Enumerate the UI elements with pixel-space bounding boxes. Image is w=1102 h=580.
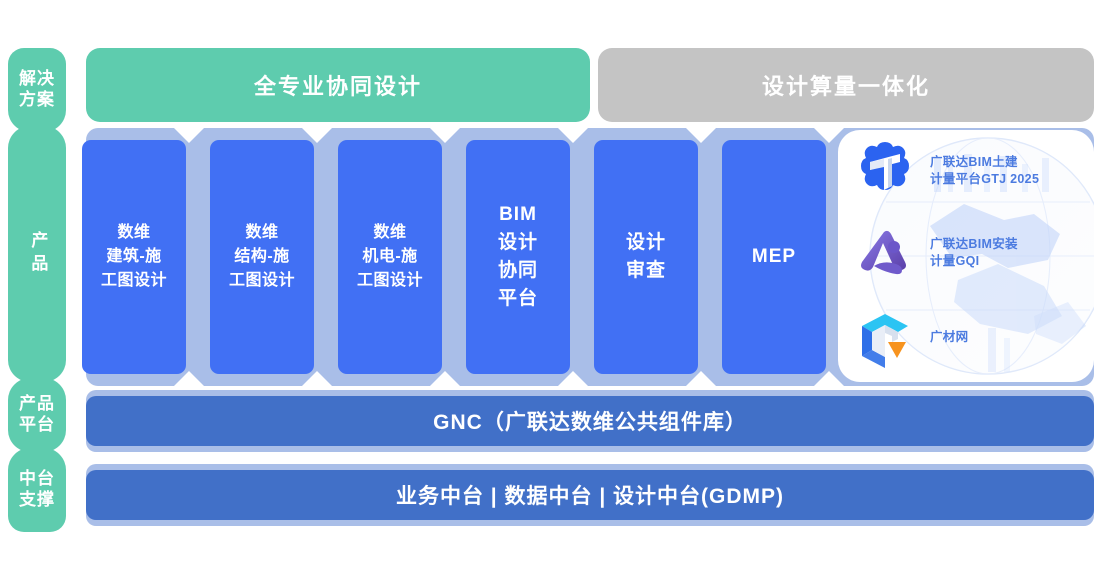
product-card-line: BIM	[494, 201, 542, 229]
gtj-caption-line1: 广联达BIM土建	[930, 154, 1039, 171]
gqi-caption: 广联达BIM安装 计量GQI	[930, 236, 1018, 270]
quantity-products-panel: 广联达BIM土建 计量平台GTJ 2025	[838, 130, 1094, 382]
rail-product-label: 产品	[27, 231, 48, 277]
midplatform-bar-label: 业务中台 | 数据中台 | 设计中台(GDMP)	[396, 480, 784, 510]
product-card-line: 设计	[622, 229, 670, 257]
product-card-line: 结构-施	[225, 245, 299, 269]
product-item-gcw[interactable]: 广材网	[854, 306, 968, 368]
solution-banner-label-2: 设计算量一体化	[762, 69, 930, 101]
rail-solution-line2: 方案	[19, 90, 55, 111]
product-card-line: 设计	[494, 229, 542, 257]
gqi-logo-icon	[854, 222, 916, 284]
product-card-mep[interactable]: MEP	[722, 140, 826, 374]
product-card-line: 工图设计	[225, 269, 299, 293]
product-card-line: 数维	[97, 221, 171, 245]
solution-banner-design-quantity: 设计算量一体化	[598, 48, 1094, 122]
product-card-line: 机电-施	[353, 245, 427, 269]
product-card-line: 审查	[622, 257, 670, 285]
product-card-design-review[interactable]: 设计 审查	[594, 140, 698, 374]
rail-midplatform-line2: 支撑	[19, 490, 55, 511]
product-card-arch[interactable]: 数维 建筑-施 工图设计	[82, 140, 186, 374]
rail-product: 产品	[8, 126, 66, 382]
product-card-line: 工图设计	[97, 269, 171, 293]
product-card-line: MEP	[748, 243, 800, 271]
solution-banner-label-1: 全专业协同设计	[254, 69, 422, 101]
gnc-bar-label: GNC（广联达数维公共组件库）	[433, 406, 747, 436]
gqi-caption-line1: 广联达BIM安装	[930, 236, 1018, 253]
rail-solution-line1: 解决	[19, 69, 55, 90]
midplatform-bar[interactable]: 业务中台 | 数据中台 | 设计中台(GDMP)	[86, 470, 1094, 520]
product-card-line: 协同	[494, 257, 542, 285]
product-card-line: 数维	[225, 221, 299, 245]
architecture-diagram: 解决 方案 产品 产品 平台 中台 支撑 全专业协同设计 设计算量一体化	[0, 0, 1102, 580]
gcw-caption: 广材网	[930, 329, 968, 346]
rail-product-platform-line2: 平台	[19, 415, 55, 436]
gcw-caption-line1: 广材网	[930, 329, 968, 346]
gqi-caption-line2: 计量GQI	[930, 253, 1018, 270]
product-card-line: 数维	[353, 221, 427, 245]
gcw-logo-icon	[854, 306, 916, 368]
product-card-struct[interactable]: 数维 结构-施 工图设计	[210, 140, 314, 374]
left-rail: 解决 方案 产品 产品 平台 中台 支撑	[8, 48, 66, 532]
product-item-gtj[interactable]: 广联达BIM土建 计量平台GTJ 2025	[854, 140, 1039, 202]
rail-solution: 解决 方案	[8, 48, 66, 132]
product-card-bim-platform[interactable]: BIM 设计 协同 平台	[466, 140, 570, 374]
gtj-caption: 广联达BIM土建 计量平台GTJ 2025	[930, 154, 1039, 188]
product-card-line: 平台	[494, 285, 542, 313]
rail-midplatform-support: 中台 支撑	[8, 448, 66, 532]
gtj-caption-line2: 计量平台GTJ 2025	[930, 171, 1039, 188]
gnc-bar[interactable]: GNC（广联达数维公共组件库）	[86, 396, 1094, 446]
rail-midplatform-line1: 中台	[19, 469, 55, 490]
gtj-logo-icon	[854, 140, 916, 202]
product-card-line: 建筑-施	[97, 245, 171, 269]
solution-banner-collaborative-design: 全专业协同设计	[86, 48, 590, 122]
rail-product-platform-line1: 产品	[19, 394, 55, 415]
product-card-line: 工图设计	[353, 269, 427, 293]
rail-product-platform: 产品 平台	[8, 378, 66, 452]
product-item-gqi[interactable]: 广联达BIM安装 计量GQI	[854, 222, 1018, 284]
product-card-mep-drawing[interactable]: 数维 机电-施 工图设计	[338, 140, 442, 374]
